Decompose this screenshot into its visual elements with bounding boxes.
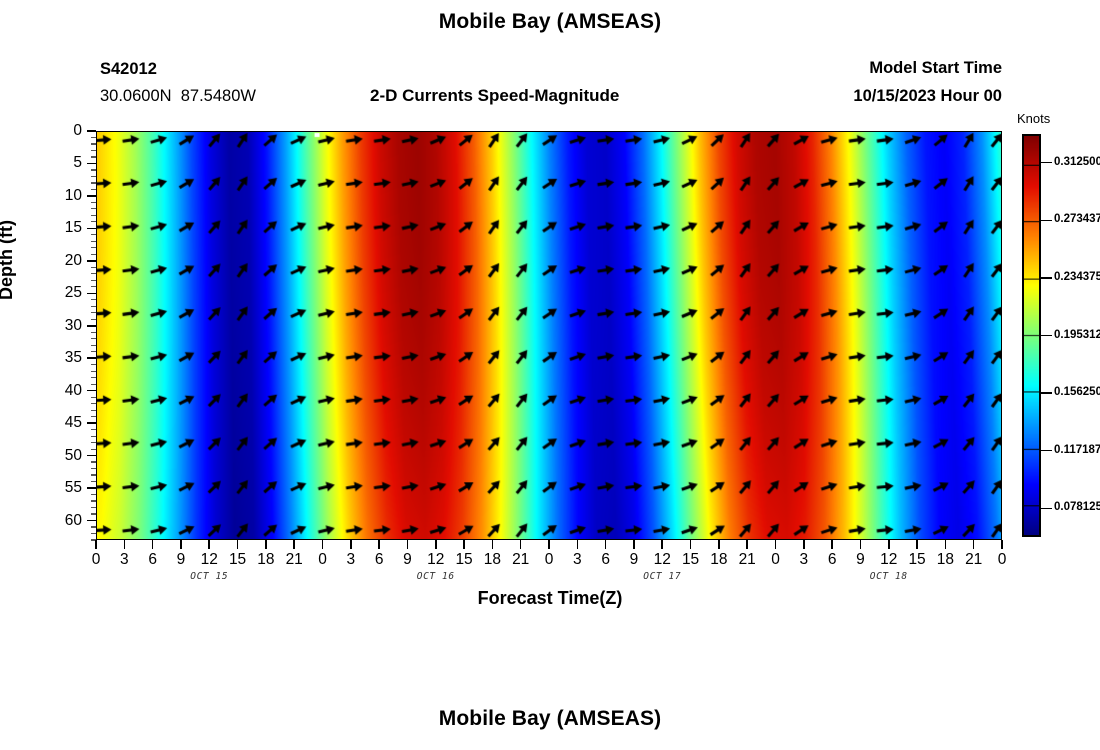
y-tick-minor [91,500,96,501]
colorbar-tick-label: 0.1562500 [1054,386,1100,398]
y-tick-mark [87,422,96,424]
x-tick-label: 12 [649,551,675,569]
y-tick-label: 35 [38,349,82,367]
x-tick-label: 9 [168,551,194,569]
x-tick-label: 3 [564,551,590,569]
y-tick-minor [91,319,96,320]
current-speed-heatmap [97,132,1001,539]
y-tick-minor [91,429,96,430]
x-tick-mark [208,540,210,549]
y-tick-minor [91,143,96,144]
y-tick-minor [91,215,96,216]
x-tick-label: 9 [621,551,647,569]
y-tick-minor [91,371,96,372]
y-tick-minor [91,332,96,333]
x-tick-mark [945,540,947,549]
colorbar-tick-label: 0.3125000 [1054,156,1100,168]
y-tick-minor [91,189,96,190]
x-tick-label: 21 [508,551,534,569]
y-tick-label: 45 [38,414,82,432]
y-tick-minor [91,156,96,157]
y-tick-minor [91,312,96,313]
x-tick-mark [293,540,295,549]
x-tick-mark [577,540,579,549]
x-tick-mark [350,540,352,549]
bottom-page-title: Mobile Bay (AMSEAS) [0,707,1100,731]
x-tick-label: 6 [366,551,392,569]
x-tick-mark [661,540,663,549]
y-tick-label: 20 [38,252,82,270]
x-tick-mark [633,540,635,549]
y-tick-label: 40 [38,382,82,400]
y-tick-minor [91,338,96,339]
x-tick-mark [435,540,437,549]
plot-subtitle: 2-D Currents Speed-Magnitude [370,86,619,106]
x-tick-mark [124,540,126,549]
x-tick-mark [378,540,380,549]
y-tick-minor [91,345,96,346]
y-tick-minor [91,286,96,287]
colorbar-tick-mark [1041,220,1052,221]
x-tick-mark [775,540,777,549]
y-tick-minor [91,513,96,514]
x-tick-label: 9 [394,551,420,569]
colorbar-tick-label: 0.1171875 [1054,444,1100,456]
x-tick-mark [520,540,522,549]
x-tick-label: 12 [876,551,902,569]
heatmap-plot-area [96,131,1002,540]
x-tick-label: 18 [479,551,505,569]
y-tick-label: 15 [38,219,82,237]
x-tick-mark [322,540,324,549]
x-tick-label: 21 [961,551,987,569]
y-tick-minor [91,150,96,151]
x-tick-mark [746,540,748,549]
x-tick-mark [718,540,720,549]
x-tick-label: 15 [451,551,477,569]
colorbar-tick-mark [1041,162,1052,163]
colorbar-gradient [1024,136,1039,535]
x-tick-mark [916,540,918,549]
x-tick-mark [265,540,267,549]
x-tick-label: 6 [819,551,845,569]
x-tick-mark [888,540,890,549]
colorbar-tick-mark [1041,450,1052,451]
y-tick-label: 50 [38,447,82,465]
y-tick-minor [91,221,96,222]
y-tick-mark [87,357,96,359]
x-tick-label: 0 [536,551,562,569]
x-tick-mark [492,540,494,549]
y-tick-minor [91,468,96,469]
y-tick-minor [91,436,96,437]
y-tick-minor [91,137,96,138]
x-tick-mark [463,540,465,549]
y-tick-mark [87,487,96,489]
x-tick-label: 15 [225,551,251,569]
y-tick-minor [91,208,96,209]
y-tick-minor [91,481,96,482]
y-tick-minor [91,234,96,235]
x-tick-label: 0 [989,551,1015,569]
y-tick-minor [91,273,96,274]
x-tick-mark [1001,540,1003,549]
x-tick-label: 21 [734,551,760,569]
x-day-label: OCT 18 [844,571,934,582]
x-tick-label: 12 [196,551,222,569]
x-tick-label: 0 [763,551,789,569]
station-id: S42012 [100,60,157,79]
y-tick-minor [91,267,96,268]
y-tick-mark [87,163,96,165]
y-tick-mark [87,195,96,197]
y-tick-mark [87,325,96,327]
x-tick-mark [831,540,833,549]
y-tick-minor [91,364,96,365]
y-tick-mark [87,455,96,457]
y-tick-minor [91,247,96,248]
y-tick-mark [87,130,96,132]
x-tick-label: 6 [140,551,166,569]
x-tick-label: 21 [281,551,307,569]
y-tick-minor [91,351,96,352]
x-tick-label: 9 [847,551,873,569]
x-tick-label: 0 [310,551,336,569]
x-tick-label: 6 [593,551,619,569]
x-tick-label: 3 [338,551,364,569]
x-tick-label: 18 [932,551,958,569]
colorbar [1022,134,1041,537]
y-tick-minor [91,397,96,398]
y-tick-minor [91,461,96,462]
colorbar-tick-mark [1041,277,1052,278]
y-tick-minor [91,202,96,203]
x-tick-label: 15 [904,551,930,569]
y-tick-minor [91,533,96,534]
x-tick-label: 0 [83,551,109,569]
y-tick-minor [91,299,96,300]
colorbar-tick-label: 0.2343750 [1054,271,1100,283]
y-tick-label: 5 [38,154,82,172]
y-tick-minor [91,306,96,307]
y-tick-minor [91,526,96,527]
y-tick-minor [91,416,96,417]
colorbar-tick-label: 0.0781250 [1054,501,1100,513]
x-tick-mark [548,540,550,549]
y-tick-minor [91,442,96,443]
x-tick-mark [407,540,409,549]
y-tick-label: 60 [38,512,82,530]
x-tick-mark [973,540,975,549]
x-tick-mark [237,540,239,549]
y-tick-minor [91,403,96,404]
y-tick-minor [91,254,96,255]
station-coordinates: 30.0600N 87.5480W [100,87,256,106]
x-tick-label: 15 [678,551,704,569]
x-tick-mark [152,540,154,549]
y-tick-minor [91,474,96,475]
y-tick-mark [87,390,96,392]
y-tick-label: 30 [38,317,82,335]
x-tick-mark [95,540,97,549]
y-tick-label: 10 [38,187,82,205]
y-tick-minor [91,280,96,281]
model-start-time-value: 10/15/2023 Hour 00 [700,87,1002,106]
model-start-time-label: Model Start Time [700,59,1002,78]
y-tick-minor [91,182,96,183]
colorbar-tick-mark [1041,508,1052,509]
y-tick-minor [91,176,96,177]
y-tick-label: 55 [38,479,82,497]
x-tick-label: 3 [111,551,137,569]
y-tick-label: 25 [38,284,82,302]
x-tick-mark [180,540,182,549]
x-tick-label: 18 [706,551,732,569]
x-tick-label: 3 [791,551,817,569]
y-tick-minor [91,384,96,385]
x-tick-mark [605,540,607,549]
x-tick-mark [803,540,805,549]
x-axis-title: Forecast Time(Z) [0,588,1100,609]
x-tick-mark [860,540,862,549]
y-tick-mark [87,293,96,295]
y-tick-mark [87,520,96,522]
colorbar-tick-label: 0.2734375 [1054,213,1100,225]
y-tick-minor [91,494,96,495]
y-tick-label: 0 [38,122,82,140]
colorbar-tick-mark [1041,335,1052,336]
y-tick-minor [91,507,96,508]
x-day-label: OCT 15 [164,571,254,582]
x-day-label: OCT 16 [391,571,481,582]
y-tick-mark [87,260,96,262]
figure-canvas: Mobile Bay (AMSEAS) S42012 30.0600N 87.5… [0,0,1100,750]
x-day-label: OCT 17 [617,571,707,582]
colorbar-tick-label: 0.1953125 [1054,329,1100,341]
x-tick-label: 18 [253,551,279,569]
y-tick-minor [91,241,96,242]
y-tick-mark [87,228,96,230]
y-axis-title: Depth (ft) [0,220,17,300]
colorbar-title: Knots [1017,111,1050,126]
colorbar-tick-mark [1041,392,1052,393]
y-tick-minor [91,169,96,170]
y-tick-minor [91,377,96,378]
x-tick-label: 12 [423,551,449,569]
y-tick-minor [91,449,96,450]
page-title: Mobile Bay (AMSEAS) [0,10,1100,34]
y-tick-minor [91,410,96,411]
x-tick-mark [690,540,692,549]
